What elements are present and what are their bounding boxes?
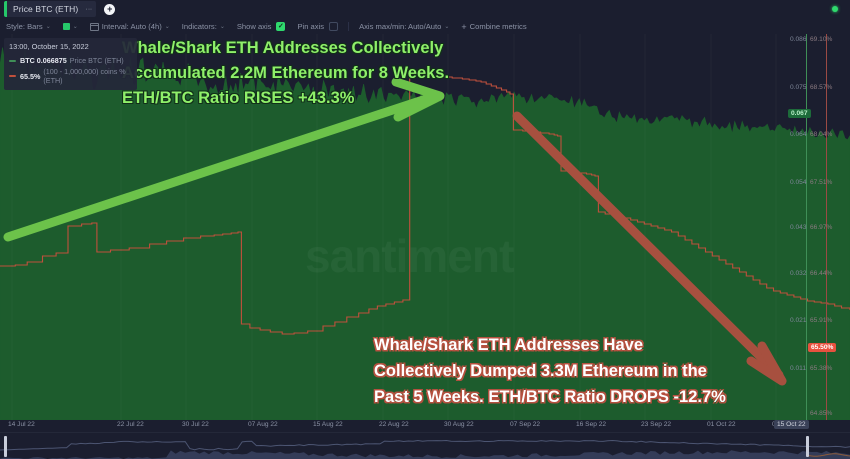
legend-color-dash bbox=[9, 60, 16, 62]
tooltip-row: BTC 0.066875Price BTC (ETH) bbox=[9, 56, 132, 65]
axis-minmax-selector[interactable]: Axis max/min: Auto/Auto ⌄ bbox=[353, 19, 455, 34]
x-axis-tick: 16 Sep 22 bbox=[576, 421, 606, 428]
live-status-dot bbox=[832, 6, 838, 12]
chart-plot-area[interactable]: santiment bbox=[0, 34, 850, 420]
x-axis-tick: 07 Aug 22 bbox=[248, 421, 278, 428]
tab-menu-icon[interactable]: ⋮ bbox=[86, 6, 92, 13]
plus-icon: + bbox=[461, 22, 466, 32]
tooltip-date: 13:00, October 15, 2022 bbox=[9, 42, 132, 51]
x-axis-tick: 30 Aug 22 bbox=[444, 421, 474, 428]
x-axis-tick: 30 Jul 22 bbox=[182, 421, 209, 428]
x-axis-tick: 07 Sep 22 bbox=[510, 421, 540, 428]
navigator-canvas bbox=[0, 433, 850, 459]
price-axis-tick: 0.021 bbox=[790, 317, 807, 324]
chevron-down-icon: ⌄ bbox=[220, 23, 225, 30]
supply-pct-axis-tick: 66.44% bbox=[810, 270, 832, 277]
tab-bar: Price BTC (ETH) ⋮ + bbox=[0, 0, 850, 18]
chart-application-window: Price BTC (ETH) ⋮ + Style: Bars ⌄ ⌄ Inte… bbox=[0, 0, 850, 459]
supply-pct-axis-tick: 68.57% bbox=[810, 84, 832, 91]
toolbar-divider bbox=[348, 22, 349, 31]
indicators-label: Indicators: bbox=[182, 22, 217, 31]
show-axis-toggle[interactable]: Show axis ✓ bbox=[231, 19, 292, 34]
chevron-down-icon: ⌄ bbox=[73, 23, 78, 30]
tooltip-row: 65.5%(100 - 1,000,000) coins % (ETH) bbox=[9, 67, 132, 85]
supply-pct-axis-tick: 65.38% bbox=[810, 365, 832, 372]
navigator-price-line bbox=[0, 441, 850, 451]
chevron-down-icon: ⌄ bbox=[444, 23, 449, 30]
price-axis-tick: 0.011 bbox=[790, 365, 806, 372]
show-axis-checkbox[interactable]: ✓ bbox=[276, 22, 285, 31]
combine-metrics-button[interactable]: + Combine metrics bbox=[455, 19, 532, 34]
tab-price-btc-eth[interactable]: Price BTC (ETH) ⋮ bbox=[4, 1, 96, 17]
supply-pct-axis-tick: 64.85% bbox=[810, 410, 832, 417]
x-axis-tick: 23 Sep 22 bbox=[641, 421, 671, 428]
x-axis-tick: 22 Aug 22 bbox=[379, 421, 409, 428]
pin-axis-label: Pin axis bbox=[297, 22, 324, 31]
price-axis-tick: 0.075 bbox=[790, 84, 807, 91]
color-selector[interactable]: ⌄ bbox=[57, 19, 84, 34]
price-axis-tick: 0.064 bbox=[790, 131, 807, 138]
style-label: Style: Bars bbox=[6, 22, 43, 31]
chart-navigator[interactable] bbox=[0, 432, 850, 459]
legend-color-dash bbox=[9, 75, 16, 77]
add-metric-button[interactable]: + bbox=[104, 4, 115, 15]
axis-minmax-label: Axis max/min: Auto/Auto bbox=[359, 22, 441, 31]
tooltip-value: BTC 0.066875 bbox=[20, 56, 67, 65]
x-axis-tick: 22 Jul 22 bbox=[117, 421, 144, 428]
color-swatch-icon bbox=[63, 23, 70, 30]
calendar-icon bbox=[90, 23, 99, 31]
price-current-value-badge: 0.067 bbox=[788, 109, 811, 118]
chart-canvas bbox=[0, 34, 850, 420]
interval-label: Interval: Auto (4h) bbox=[102, 22, 162, 31]
x-axis-tick: 01 Oct 22 bbox=[707, 421, 736, 428]
tooltip-value: 65.5% bbox=[20, 72, 40, 81]
price-axis-tick: 0.032 bbox=[790, 270, 807, 277]
navigator-volume-area bbox=[0, 450, 850, 459]
chevron-down-icon: ⌄ bbox=[165, 23, 170, 30]
pin-axis-toggle[interactable]: Pin axis bbox=[291, 19, 344, 34]
price-axis-tick: 0.043 bbox=[790, 224, 807, 231]
navigator-left-handle[interactable] bbox=[4, 436, 7, 457]
x-axis-tick: 15 Aug 22 bbox=[313, 421, 343, 428]
tooltip-series-name: Price BTC (ETH) bbox=[70, 56, 124, 65]
price-axis-tick: 0.086 bbox=[790, 36, 807, 43]
supply-pct-axis-tick: 67.51% bbox=[810, 179, 832, 186]
tooltip-rows: BTC 0.066875Price BTC (ETH)65.5%(100 - 1… bbox=[9, 56, 132, 85]
x-axis-tick-highlighted: 15 Oct 22 bbox=[774, 420, 809, 429]
interval-selector[interactable]: Interval: Auto (4h) ⌄ bbox=[84, 19, 176, 34]
pin-axis-checkbox[interactable] bbox=[329, 22, 338, 31]
price-axis-tick: 0.054 bbox=[790, 179, 807, 186]
navigator-right-handle[interactable] bbox=[806, 436, 809, 457]
chart-toolbar: Style: Bars ⌄ ⌄ Interval: Auto (4h) ⌄ In… bbox=[0, 19, 850, 34]
tab-label: Price BTC (ETH) bbox=[13, 4, 78, 14]
supply-pct-axis-tick: 68.04% bbox=[810, 131, 832, 138]
tooltip-series-name: (100 - 1,000,000) coins % (ETH) bbox=[43, 67, 132, 85]
show-axis-label: Show axis bbox=[237, 22, 272, 31]
x-axis-tick: 14 Jul 22 bbox=[8, 421, 35, 428]
chart-tooltip: 13:00, October 15, 2022 BTC 0.066875Pric… bbox=[4, 38, 137, 90]
supply-pct-axis-tick: 65.91% bbox=[810, 317, 832, 324]
style-selector[interactable]: Style: Bars ⌄ bbox=[0, 19, 57, 34]
chevron-down-icon: ⌄ bbox=[46, 23, 51, 30]
supply-pct-current-value-badge: 65.50% bbox=[808, 343, 836, 352]
indicators-selector[interactable]: Indicators: ⌄ bbox=[176, 19, 231, 34]
supply-pct-axis-tick: 66.97% bbox=[810, 224, 832, 231]
supply-pct-axis-tick: 69.10% bbox=[810, 36, 832, 43]
x-axis: 14 Jul 2222 Jul 2230 Jul 2207 Aug 2215 A… bbox=[0, 420, 850, 432]
combine-metrics-label: Combine metrics bbox=[470, 22, 527, 31]
